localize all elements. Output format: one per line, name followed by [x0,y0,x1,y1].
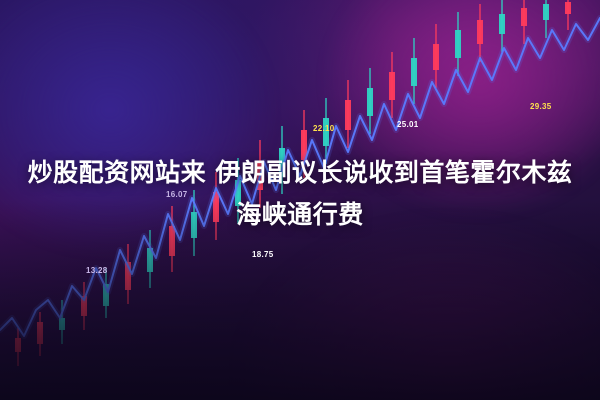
news-thumbnail: 22.1025.0129.3518.7516.0713.28 炒股配资网站来 伊… [0,0,600,400]
price-value-label: 25.01 [397,120,419,129]
price-value-label: 29.35 [530,102,552,111]
candle-body [345,100,351,130]
headline-line-2: 海峡通行费 [0,194,600,236]
candle-body [455,30,461,58]
price-value-label: 13.28 [86,266,108,275]
candle-body [565,2,571,14]
candle-body [389,72,395,100]
candle-body [477,20,483,44]
price-value-label: 22.10 [313,124,335,133]
price-value-label: 18.75 [252,250,274,259]
candle-body [367,88,373,116]
headline-text: 炒股配资网站来 伊朗副议长说收到首笔霍尔木兹 海峡通行费 [0,152,600,236]
headline-line-1: 炒股配资网站来 伊朗副议长说收到首笔霍尔木兹 [0,152,600,194]
candle-body [499,14,505,34]
candle-body [521,8,527,26]
candle-body [543,4,549,20]
candle-body [411,58,417,86]
candle-body [433,44,439,70]
